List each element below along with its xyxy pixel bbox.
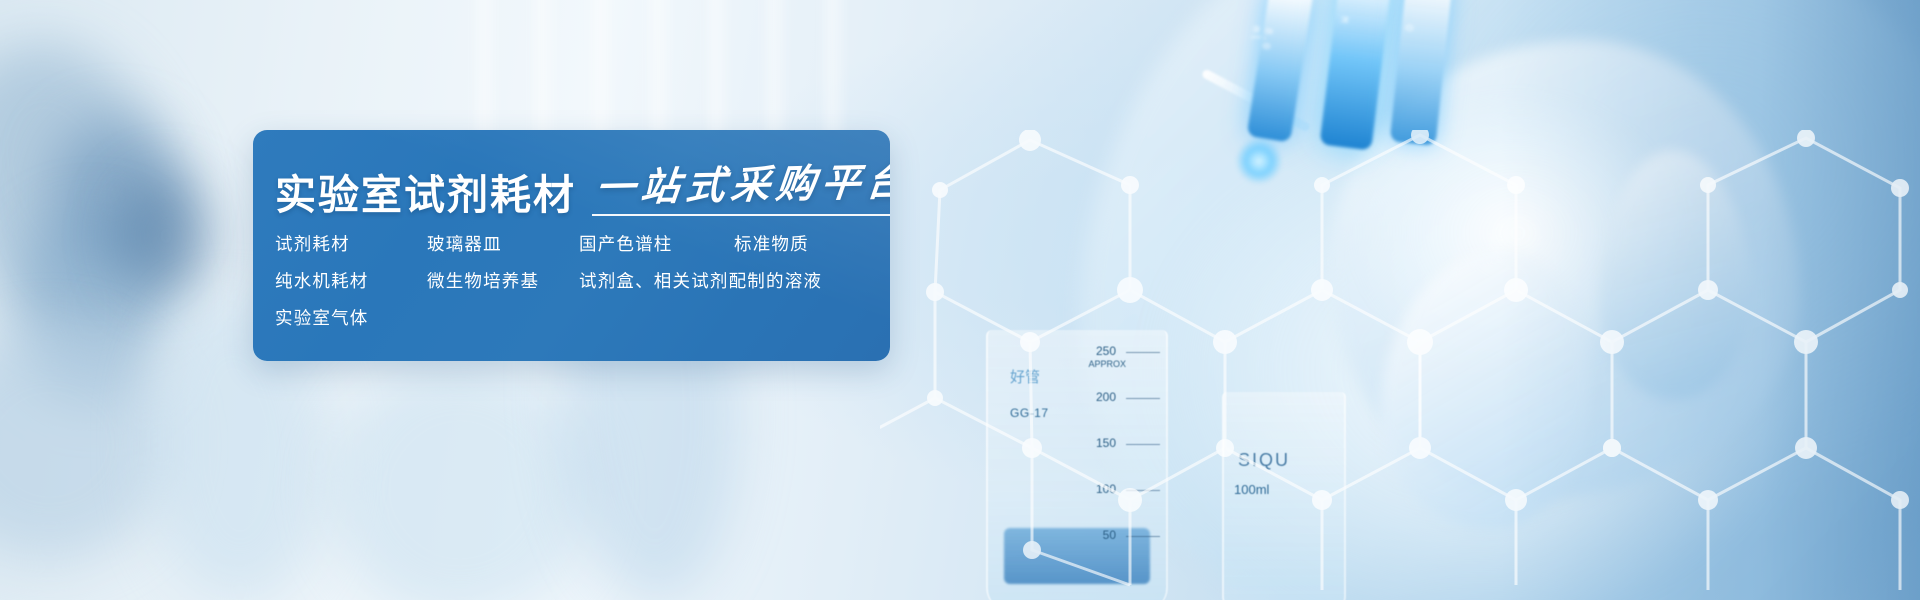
title-underline-wrapper: 一站式采购平台 [592, 166, 890, 216]
bokeh-blob [118, 176, 214, 296]
category-item[interactable]: 微生物培养基 [427, 273, 579, 291]
category-item[interactable]: 纯水机耗材 [275, 273, 427, 291]
category-row: 纯水机耗材 微生物培养基 试剂盒、相关试剂配制的溶液 [275, 263, 875, 300]
page-subtitle-brush: 一站式采购平台 [594, 163, 890, 209]
category-item[interactable]: 标准物质 [734, 236, 809, 254]
category-row: 试剂耗材 玻璃器皿 国产色谱柱 标准物质 [275, 226, 875, 263]
molecular-network-overlay [880, 130, 1920, 600]
category-item[interactable]: 国产色谱柱 [579, 236, 734, 254]
lab-supplies-banner: 8.0 ml M O 好管 250 APPROX 200 150 100 50 … [0, 0, 1920, 600]
category-item[interactable]: 试剂盒、相关试剂配制的溶液 [579, 273, 822, 291]
category-item[interactable]: 玻璃器皿 [427, 236, 579, 254]
category-list: 试剂耗材 玻璃器皿 国产色谱柱 标准物质 纯水机耗材 微生物培养基 试剂盒、相关… [275, 226, 875, 337]
vial-label: 8.0 ml [1245, 25, 1274, 62]
bokeh-blob [330, 360, 590, 600]
category-item[interactable]: 试剂耗材 [275, 236, 427, 254]
category-item[interactable]: 实验室气体 [275, 310, 427, 328]
vial-label: O [1401, 24, 1414, 33]
page-title: 实验室试剂耗材 [275, 175, 576, 216]
promo-panel: 实验室试剂耗材 一站式采购平台 试剂耗材 玻璃器皿 国产色谱柱 标准物质 纯水机… [253, 130, 890, 361]
category-row: 实验室气体 [275, 300, 875, 337]
vial-label: M [1336, 15, 1349, 24]
panel-title: 实验室试剂耗材 一站式采购平台 [275, 154, 875, 216]
